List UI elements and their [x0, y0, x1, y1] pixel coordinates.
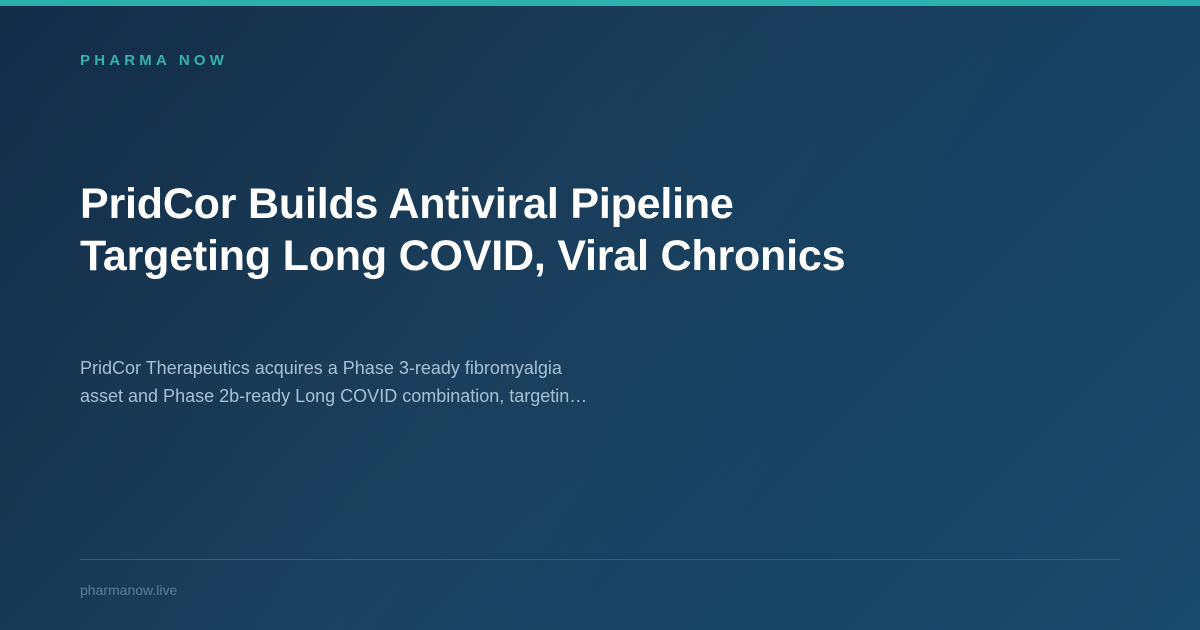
subtitle: PridCor Therapeutics acquires a Phase 3-… [80, 354, 740, 410]
headline-line-2: Targeting Long COVID, Viral Chronics [80, 230, 980, 282]
headline: PridCor Builds Antiviral Pipeline Target… [80, 178, 980, 282]
brand-kicker: PHARMA NOW [80, 51, 228, 71]
footer-domain: pharmanow.live [80, 581, 177, 599]
subtitle-line-2: asset and Phase 2b-ready Long COVID comb… [80, 382, 740, 410]
subtitle-line-1: PridCor Therapeutics acquires a Phase 3-… [80, 354, 740, 382]
footer-divider [80, 559, 1120, 560]
og-share-card: PHARMA NOW PridCor Builds Antiviral Pipe… [0, 0, 1200, 630]
headline-line-1: PridCor Builds Antiviral Pipeline [80, 178, 980, 230]
card-content: PHARMA NOW PridCor Builds Antiviral Pipe… [80, 0, 1120, 630]
